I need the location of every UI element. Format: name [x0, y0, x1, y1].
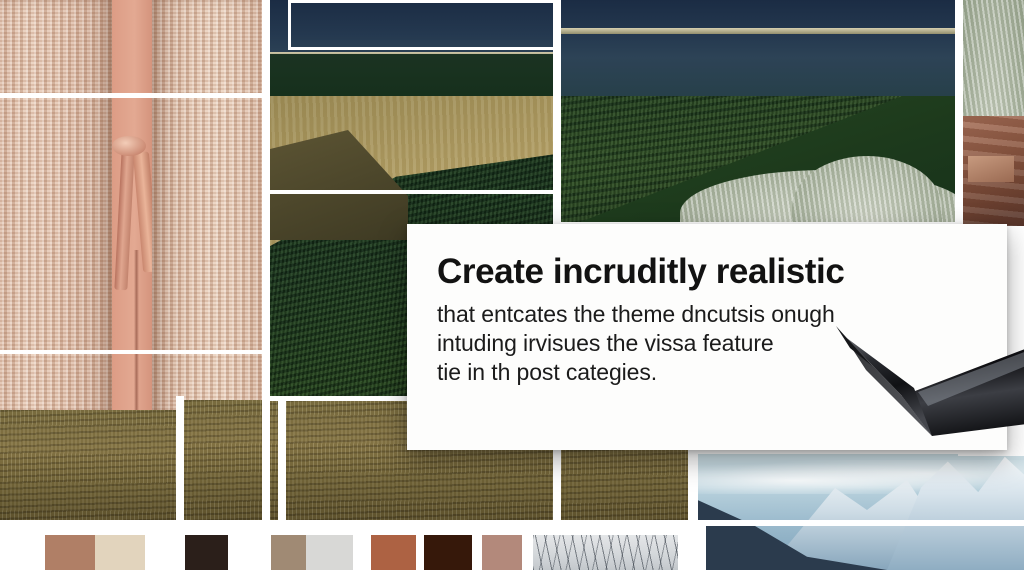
ridge-forest-band — [268, 54, 560, 96]
swatch-rosy-brown[interactable] — [45, 535, 95, 570]
note-body: that entcates the theme dncutsis onugh i… — [437, 300, 981, 388]
frame-line-top — [288, 0, 556, 3]
swatch-light-grey[interactable] — [306, 535, 353, 570]
seam-v-4 — [176, 396, 184, 520]
swatch-cream-beige[interactable] — [95, 535, 145, 570]
seam-h-bottom-right — [706, 520, 1024, 526]
swatch-coffee-brown[interactable] — [228, 535, 271, 570]
seam-h-mid-1 — [268, 190, 560, 194]
frame-line-bottom — [288, 47, 556, 50]
moodboard-canvas: Create incruditly realistic that entcate… — [0, 0, 1024, 570]
seam-h-left-1 — [0, 93, 268, 98]
note-body-line-2: intuding irvisues the vissa feature — [437, 329, 981, 358]
collage-tile-mountains[interactable] — [697, 452, 1024, 570]
swatch-dark-choco[interactable] — [424, 535, 472, 570]
collage-tile-dry-grass-left[interactable] — [0, 410, 180, 520]
swatch-rust-orange[interactable] — [371, 535, 416, 570]
collage-tile-rock-sage[interactable] — [962, 0, 1024, 226]
frame-line-left — [288, 0, 291, 50]
seam-v-1 — [262, 0, 270, 520]
swatch-espresso[interactable] — [185, 535, 228, 570]
seam-v-3 — [955, 0, 963, 240]
seam-v-5 — [278, 396, 286, 520]
swatch-branch-photo[interactable] — [533, 535, 678, 570]
swatch-taupe[interactable] — [271, 535, 306, 570]
note-card[interactable]: Create incruditly realistic that entcate… — [407, 224, 1007, 450]
tie-knot — [112, 136, 146, 156]
collage-tile-ridge-top-right[interactable] — [560, 0, 958, 96]
swatch-dusty-rose[interactable] — [482, 535, 522, 570]
note-title: Create incruditly realistic — [437, 254, 981, 291]
distant-ridgeline — [560, 28, 958, 34]
rock-ledge — [968, 156, 1014, 182]
collage-tile-forest-slope[interactable] — [560, 96, 958, 226]
note-body-line-3: tie in th post categies. — [437, 358, 981, 387]
seam-h-left-2 — [0, 350, 268, 354]
note-body-line-1: that entcates the theme dncutsis onugh — [437, 300, 981, 329]
